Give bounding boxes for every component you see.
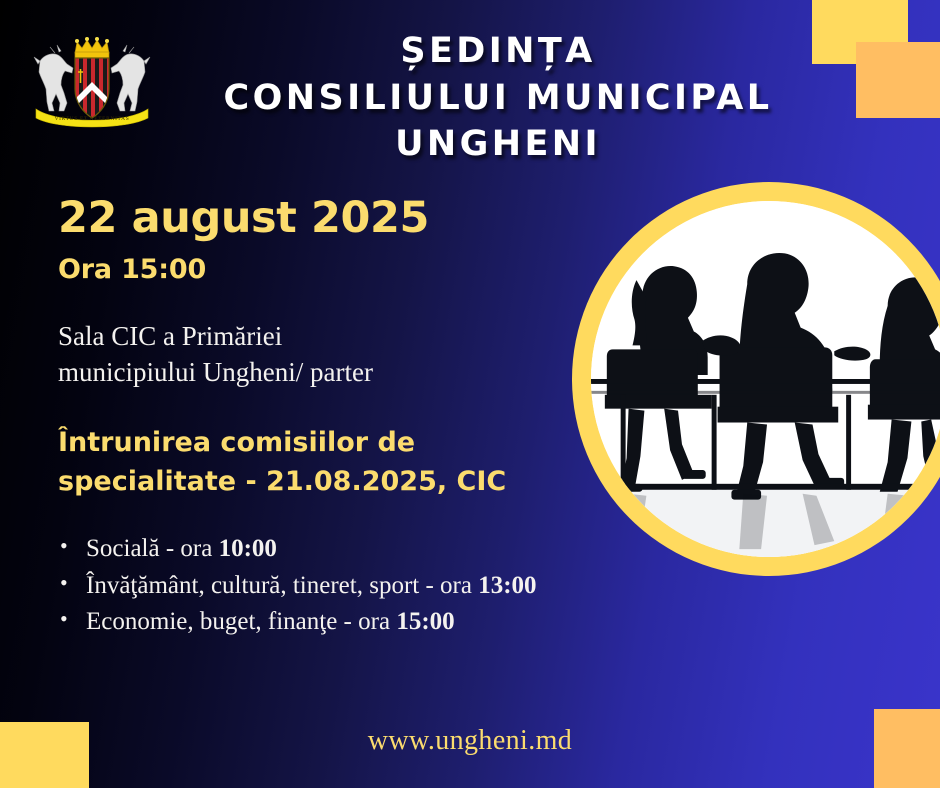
meeting-photo: [591, 201, 940, 557]
page-title: ȘEDINȚA CONSILIULUI MUNICIPAL UNGHENI: [196, 28, 800, 168]
meeting-hour: Ora 15:00: [58, 255, 558, 285]
motto-text: VIRTUS ET AETERNITAS: [55, 116, 130, 122]
venue-line-2: municipiului Ungheni/ parter: [58, 355, 558, 391]
commission-time: 10:00: [219, 535, 277, 562]
website-url[interactable]: www.ungheni.md: [0, 725, 940, 757]
commissions-heading: Întrunirea comisiilor de specialitate - …: [58, 423, 578, 501]
commission-name: Economie, buget, finanţe - ora: [86, 608, 396, 635]
title-line-3: UNGHENI: [196, 121, 800, 168]
commissions-heading-line-2: specialitate - 21.08.2025, CIC: [58, 462, 578, 501]
list-item: Socială - ora 10:00: [58, 531, 778, 568]
title-line-2: CONSILIULUI MUNICIPAL: [196, 75, 800, 122]
commission-time: 15:00: [396, 608, 454, 635]
poster-canvas: VIRTUS ET AETERNITAS ȘEDINȚA CONSILIULUI…: [0, 0, 940, 788]
commissions-list: Socială - ora 10:00 Învăţământ, cultură,…: [58, 531, 778, 641]
shield-icon: [75, 58, 109, 120]
list-item: Învăţământ, cultură, tineret, sport - or…: [58, 568, 778, 605]
commissions-heading-line-1: Întrunirea comisiilor de: [58, 423, 578, 462]
meeting-date: 22 august 2025: [58, 196, 558, 241]
commission-time: 13:00: [478, 572, 536, 599]
commission-name: Învăţământ, cultură, tineret, sport - or…: [86, 572, 478, 599]
venue-line-1: Sala CIC a Primăriei: [58, 319, 558, 355]
meeting-photo-circle: [572, 182, 940, 576]
crown-icon: [75, 37, 109, 58]
coat-of-arms-icon: VIRTUS ET AETERNITAS: [28, 31, 156, 129]
title-line-1: ȘEDINȚA: [196, 28, 800, 75]
list-item: Economie, buget, finanţe - ora 15:00: [58, 604, 778, 641]
commission-name: Socială - ora: [86, 535, 219, 562]
meeting-venue: Sala CIC a Primăriei municipiului Unghen…: [58, 319, 558, 391]
decor-square-top-orange: [856, 42, 940, 118]
details-column: 22 august 2025 Ora 15:00 Sala CIC a Prim…: [58, 196, 558, 641]
